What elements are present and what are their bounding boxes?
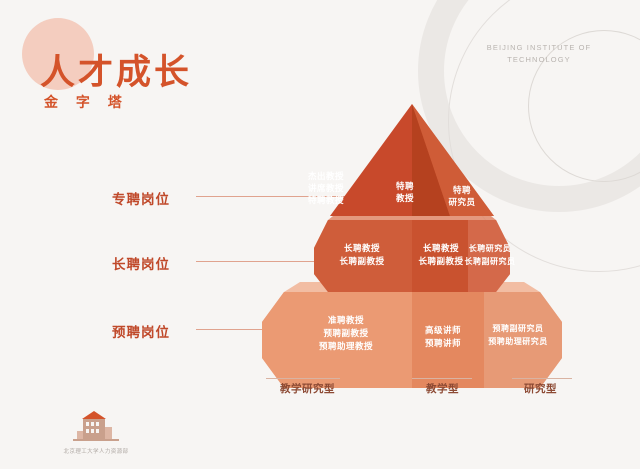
category-label-special-post: 专聘岗位 <box>112 188 170 208</box>
axis-label-teaching-research: 教学研究型 <box>280 381 335 396</box>
tier-mid-right-label: 长聘研究员长聘副研究员 <box>464 242 516 268</box>
tier-bottom-left-label: 准聘教授预聘副教授预聘助理教授 <box>296 314 396 353</box>
category-label-tenured-post: 长聘岗位 <box>112 253 170 273</box>
tier-top-right-label: 特聘研究员 <box>438 184 486 208</box>
tier-bottom-mid-label: 高级讲师预聘讲师 <box>412 324 474 350</box>
footer-logo: 北京理工大学人力资源部 <box>36 409 156 455</box>
building-icon-svg <box>73 409 119 443</box>
brand-english-line1: BEIJING INSTITUTE OF <box>464 42 614 54</box>
page-title: 人才成长 <box>40 44 192 95</box>
axis-rule-2 <box>412 378 472 379</box>
page-subtitle: 金 字 塔 <box>44 92 129 112</box>
institute-building-icon <box>73 409 119 443</box>
tier-top-left-label: 杰出教授讲席教授特聘教授 <box>280 170 372 206</box>
footer-caption: 北京理工大学人力资源部 <box>36 447 156 455</box>
axis-rule-1 <box>266 378 340 379</box>
tier-bottom-right-label: 预聘副研究员预聘助理研究员 <box>478 322 558 348</box>
axis-rule-3 <box>512 378 572 379</box>
slide-canvas: 人才成长 金 字 塔 BEIJING INSTITUTE OF TECHNOLO… <box>0 0 640 469</box>
axis-label-research: 研究型 <box>524 381 557 396</box>
brand-english-line2: TECHNOLOGY <box>464 54 614 66</box>
axis-label-teaching: 教学型 <box>426 381 459 396</box>
tier-top-mid-label: 特聘教授 <box>382 180 428 204</box>
tier-mid-mid-label: 长聘教授长聘副教授 <box>412 242 470 268</box>
pyramid-diagram: 杰出教授讲席教授特聘教授 特聘教授 特聘研究员 长聘教授长聘副教授 长聘教授长聘… <box>262 96 562 388</box>
category-label-pretenure-post: 预聘岗位 <box>112 321 170 341</box>
tier-mid-left-label: 长聘教授长聘副教授 <box>316 242 408 268</box>
brand-english: BEIJING INSTITUTE OF TECHNOLOGY <box>464 42 614 66</box>
